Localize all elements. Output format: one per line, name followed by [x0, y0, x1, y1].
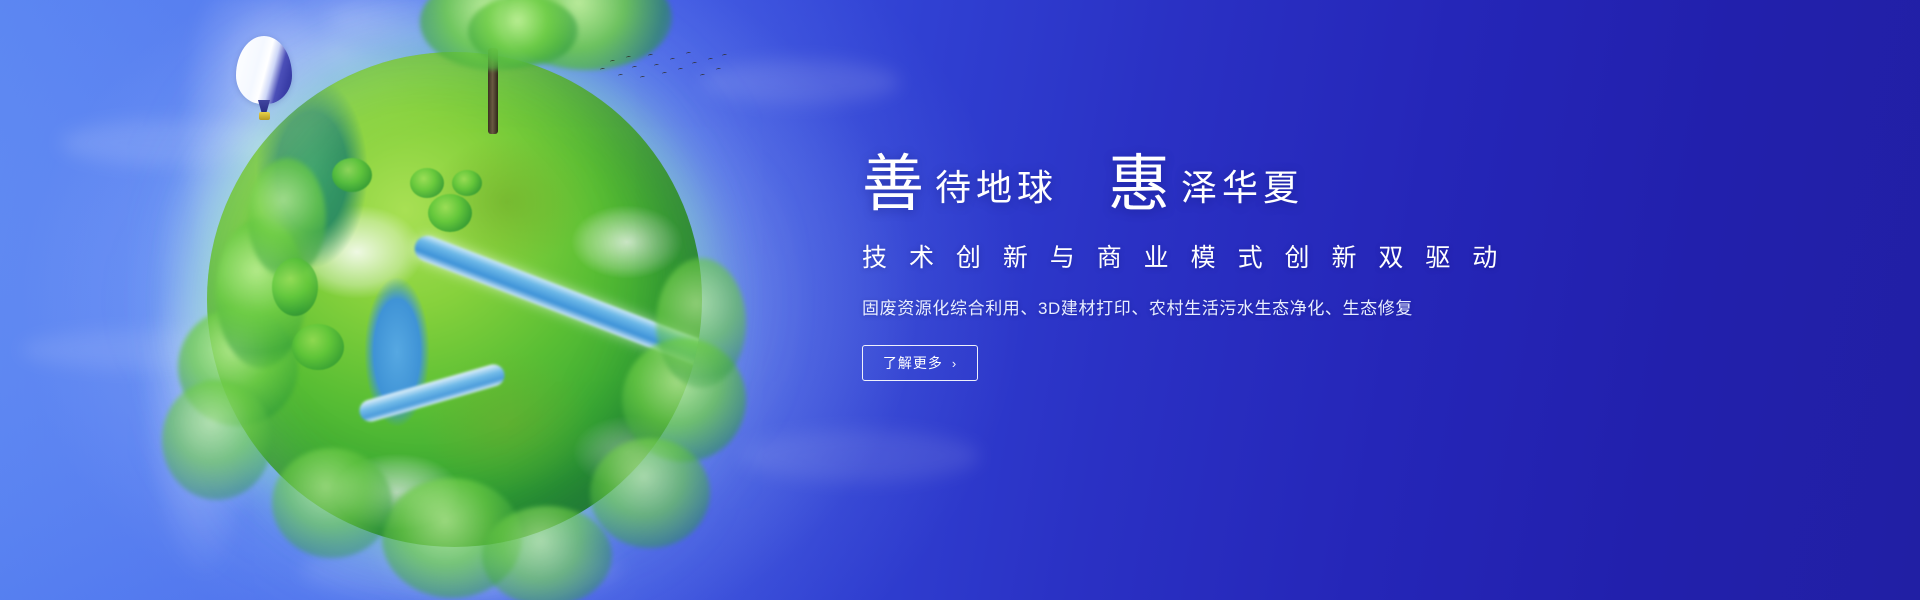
headline-part1-small: 待地球 — [925, 170, 1058, 206]
banner-content: 善 待地球 惠 泽华夏 技 术 创 新 与 商 业 模 式 创 新 双 驱 动 … — [862, 126, 1762, 381]
cloud-wisp — [20, 330, 280, 370]
bush-icon — [272, 258, 318, 316]
tree-trunk — [488, 48, 498, 134]
headline-part1-large: 善 — [862, 154, 925, 216]
tree-icon — [178, 308, 298, 426]
tree-icon — [420, 0, 570, 70]
balloon-envelope — [236, 36, 292, 104]
tree-icon — [248, 158, 326, 278]
tree-icon — [272, 448, 392, 558]
tree-icon — [162, 380, 272, 500]
cloud-wisp — [740, 430, 980, 482]
tree-icon — [590, 438, 710, 548]
cloud-swirl — [0, 0, 962, 600]
balloon-neck — [258, 100, 270, 112]
bush-icon — [410, 168, 444, 198]
flock-of-birds-icon — [596, 50, 726, 90]
bush-icon — [452, 170, 482, 196]
learn-more-label: 了解更多 — [883, 353, 943, 373]
tree-icon — [622, 338, 746, 462]
bush-icon — [292, 324, 344, 370]
tree-icon — [468, 0, 578, 66]
banner-tagline: 固废资源化综合利用、3D建材打印、农村生活污水生态净化、生态修复 — [862, 294, 1762, 319]
balloon-basket — [259, 112, 270, 120]
bush-icon — [332, 158, 372, 192]
tree-icon — [482, 506, 612, 600]
banner-subtitle: 技 术 创 新 与 商 业 模 式 创 新 双 驱 动 — [862, 238, 1762, 274]
cloud-wisp — [300, 540, 620, 600]
cloud-wisp — [330, 0, 630, 46]
tree-icon — [216, 218, 306, 368]
headline-part2-large: 惠 — [1108, 154, 1171, 216]
tree-icon — [656, 258, 746, 388]
chevron-right-icon: › — [952, 357, 957, 370]
cloud-wisp — [700, 60, 900, 104]
tree-icon — [382, 478, 522, 598]
page-title: 善 待地球 惠 泽华夏 — [862, 126, 1762, 212]
hot-air-balloon-icon — [236, 36, 292, 130]
headline-part2-small: 泽华夏 — [1171, 170, 1304, 206]
hero-banner: 善 待地球 惠 泽华夏 技 术 创 新 与 商 业 模 式 创 新 双 驱 动 … — [0, 0, 1920, 600]
learn-more-button[interactable]: 了解更多 › — [862, 345, 978, 381]
bush-icon — [428, 194, 472, 232]
